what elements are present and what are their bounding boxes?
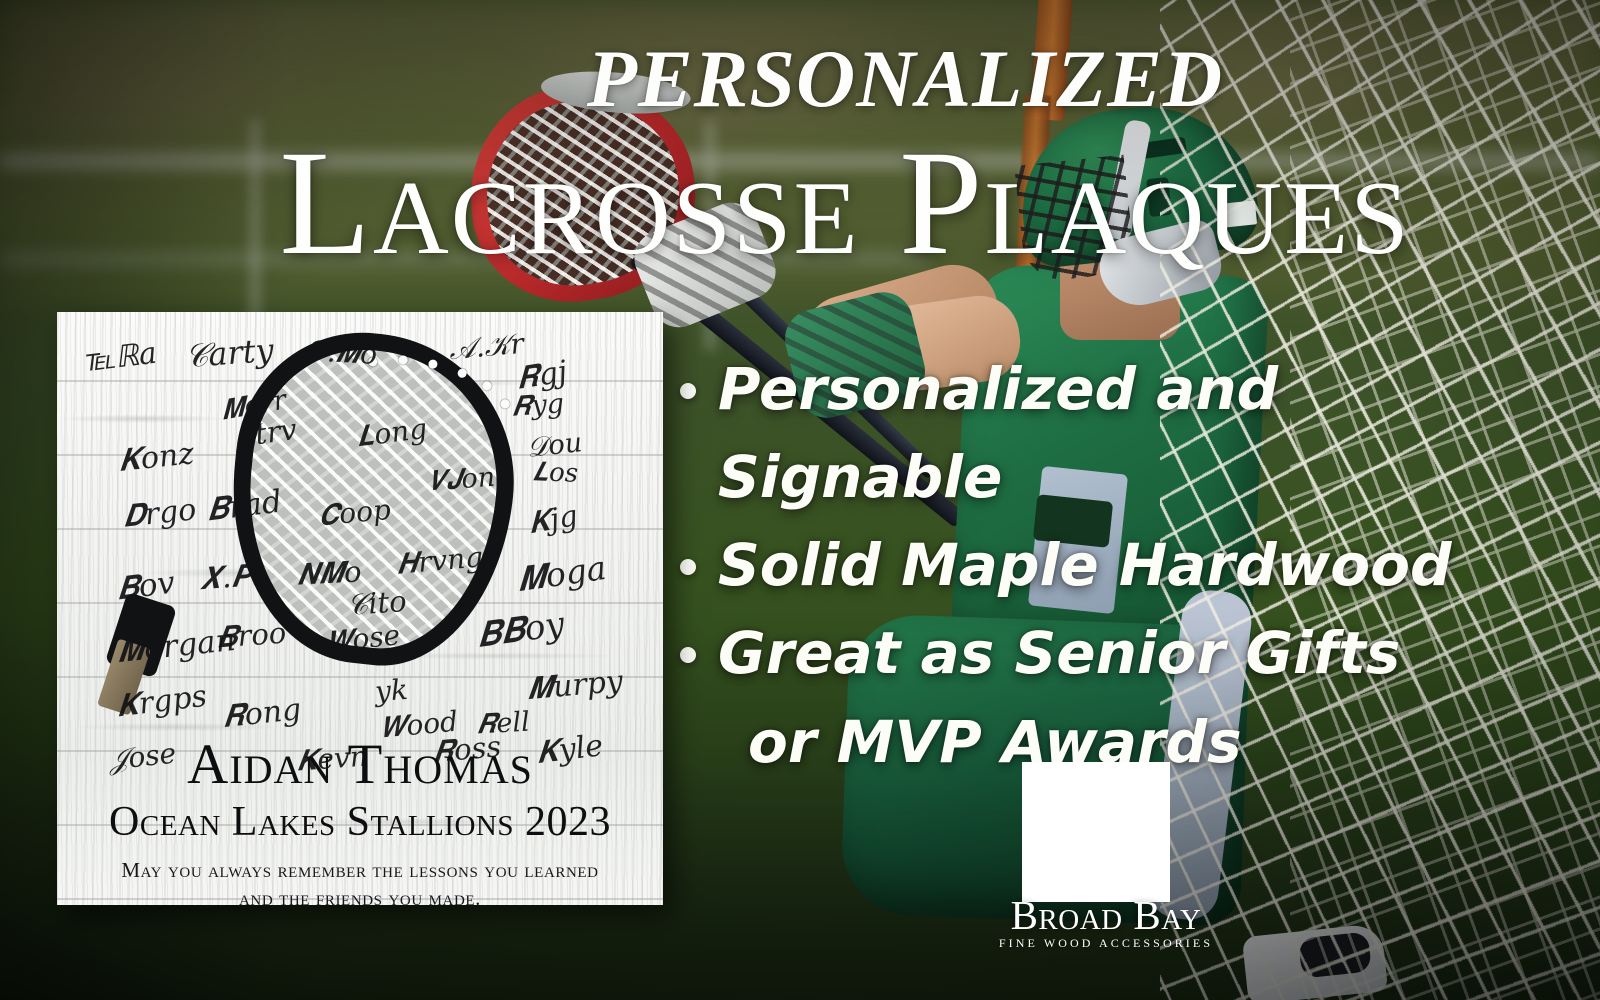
list-item: Solid Maple Hardwood <box>680 521 1580 609</box>
brand-logo: Broad Bay FINE WOOD ACCESSORIES <box>1010 762 1200 962</box>
screw-dot <box>482 381 492 391</box>
page-title: Lacrosse Plaques <box>0 128 1600 278</box>
logo-b-monogram-icon <box>1022 762 1170 902</box>
list-item: Great as Senior Gifts <box>680 609 1580 697</box>
plaque-lacrosse-head-artwork <box>216 320 529 677</box>
feature-label: Great as Senior Gifts <box>718 609 1580 697</box>
brand-name: Broad Bay <box>988 895 1224 936</box>
feature-label: Personalized and Signable <box>718 345 1580 521</box>
brand-tagline: FINE WOOD ACCESSORIES <box>988 936 1224 951</box>
bullet-dot-icon <box>680 559 696 575</box>
product-plaque: ℡ℝ𝑎 𝒞𝑎𝑟𝑡𝑦 ℱ.𝑴𝑜 𝒜.𝒦𝑟 𝑹𝑔𝑗 𝑹𝑦𝑔 𝑴𝑜𝑟𝑟 𝒟𝑜𝑢 𝑲𝑜𝑛… <box>57 312 663 905</box>
screw-dot <box>428 359 438 369</box>
plaque-team-line: Ocean Lakes Stallions 2023 <box>57 798 663 846</box>
screw-dot <box>368 357 378 367</box>
headline-kicker: PERSONALIZED <box>0 38 1600 120</box>
promotional-banner: PERSONALIZED Lacrosse Plaques Personaliz… <box>0 0 1600 1000</box>
list-item: Personalized and Signable <box>680 345 1580 521</box>
bullet-dot-icon <box>680 383 696 399</box>
plaque-recipient-name: Aidan Thomas <box>57 732 663 797</box>
plaque-head-shaft <box>97 638 151 715</box>
feature-label: Solid Maple Hardwood <box>718 521 1580 609</box>
screw-dot <box>500 399 510 409</box>
screw-dot <box>457 368 467 378</box>
screw-dot <box>398 355 408 365</box>
feature-list: Personalized and Signable Solid Maple Ha… <box>680 345 1580 786</box>
bullet-dot-icon <box>680 647 696 663</box>
plaque-quote: May you always remember the lessons you … <box>103 856 617 905</box>
